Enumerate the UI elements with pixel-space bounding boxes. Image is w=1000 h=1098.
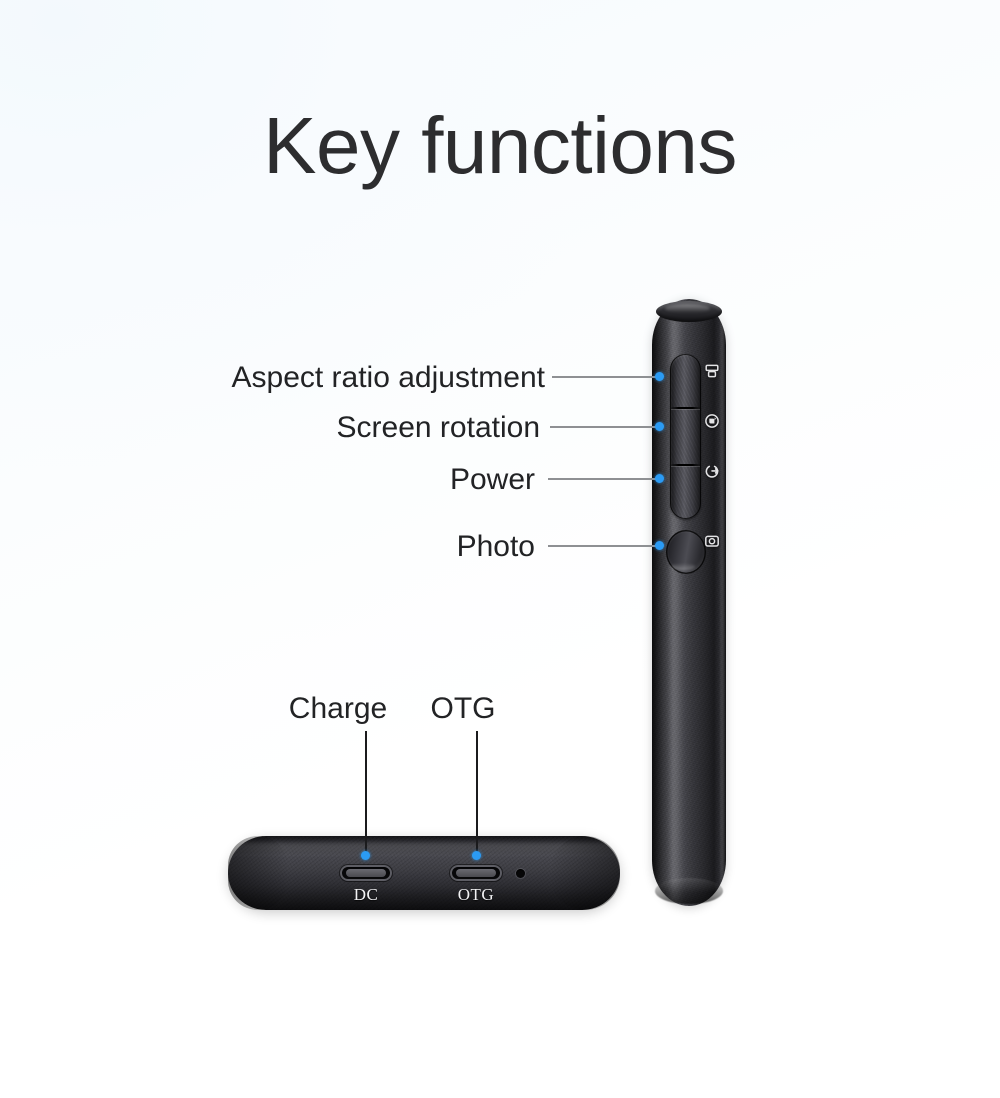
endcap-left-shading: [228, 836, 288, 910]
leader-line-otg: [476, 731, 478, 856]
aspect-ratio-icon: [704, 363, 720, 379]
callout-label-otg: OTG: [398, 694, 528, 724]
device-body: [652, 299, 726, 906]
callout-dot-charge: [361, 851, 370, 860]
callout-dot-aspect-ratio: [655, 372, 664, 381]
callout-label-power: Power: [155, 465, 535, 495]
rocker-divider-lower: [671, 464, 700, 466]
callout-label-screen-rotation: Screen rotation: [155, 413, 540, 443]
device-bottom-endcap: DC OTG: [228, 836, 620, 910]
screen-rotation-icon: [704, 413, 720, 429]
callout-label-aspect-ratio: Aspect ratio adjustment: [155, 363, 545, 393]
usb-c-port-charge[interactable]: [340, 865, 392, 881]
rocker-divider-upper: [671, 407, 700, 409]
callout-dot-photo: [655, 541, 664, 550]
device-top-cap-gloss: [665, 304, 710, 313]
callout-dot-screen-rotation: [655, 422, 664, 431]
rocker-button-strip[interactable]: [670, 354, 701, 519]
callout-dot-otg: [472, 851, 481, 860]
leader-line-aspect-ratio: [552, 376, 657, 378]
device-bottom-cap: [655, 878, 723, 904]
callout-dot-power: [655, 474, 664, 483]
leader-line-photo: [548, 545, 657, 547]
photo-button[interactable]: [666, 530, 706, 574]
infographic-canvas: Key functions: [0, 0, 1000, 1098]
leader-line-charge: [365, 731, 367, 856]
power-icon: [704, 463, 720, 479]
leader-line-power: [548, 478, 657, 480]
reset-pinhole: [516, 869, 525, 878]
port-label-dc: DC: [330, 886, 402, 903]
page-title: Key functions: [0, 104, 1000, 188]
endcap-right-shading: [550, 836, 620, 910]
port-label-otg: OTG: [440, 886, 512, 903]
leader-line-screen-rotation: [550, 426, 657, 428]
callout-label-photo: Photo: [155, 532, 535, 562]
usb-c-port-otg[interactable]: [450, 865, 502, 881]
device-rim-highlight: [720, 317, 724, 889]
camera-icon: [704, 533, 720, 549]
